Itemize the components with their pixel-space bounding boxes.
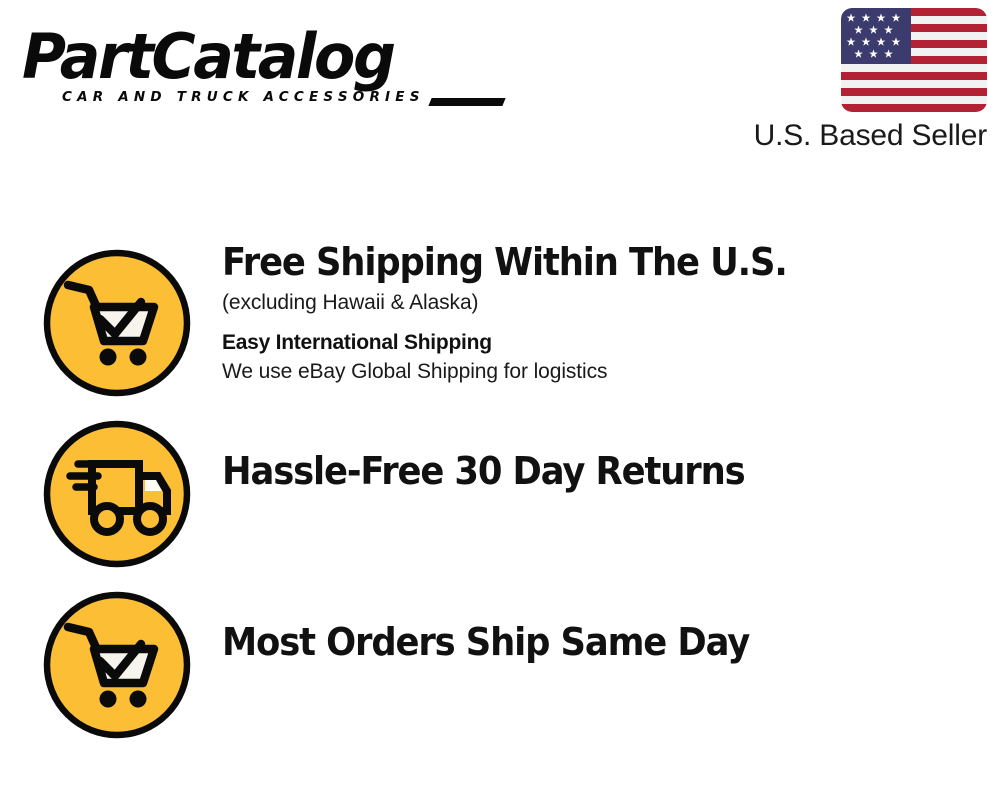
feature-row: Free Shipping Within The U.S. (excluding… bbox=[0, 235, 1000, 395]
shopping-cart-check-icon bbox=[42, 248, 192, 398]
feature-title: Hassle-Free 30 Day Returns bbox=[222, 446, 929, 496]
page-header: PartCatalog CAR AND TRUCK ACCESSORIES bbox=[0, 0, 1000, 170]
brand-logo[interactable]: PartCatalog CAR AND TRUCK ACCESSORIES bbox=[22, 26, 492, 118]
feature-text: Free Shipping Within The U.S. (excluding… bbox=[222, 237, 982, 387]
feature-title: Free Shipping Within The U.S. bbox=[222, 237, 929, 287]
us-flag-icon bbox=[841, 8, 987, 112]
brand-tagline: CAR AND TRUCK ACCESSORIES bbox=[62, 89, 425, 105]
feature-text: Most Orders Ship Same Day bbox=[222, 617, 982, 667]
feature-text: Hassle-Free 30 Day Returns bbox=[222, 446, 982, 496]
seller-badge: U.S. Based Seller bbox=[715, 8, 987, 154]
feature-title: Most Orders Ship Same Day bbox=[222, 617, 929, 667]
seller-label: U.S. Based Seller bbox=[715, 118, 987, 154]
feature-sub-title: Easy International Shipping bbox=[222, 328, 982, 357]
feature-note: (excluding Hawaii & Alaska) bbox=[222, 287, 982, 319]
brand-wordmark: PartCatalog bbox=[22, 26, 478, 88]
delivery-truck-icon bbox=[42, 419, 192, 569]
feature-row: Hassle-Free 30 Day Returns bbox=[0, 406, 1000, 566]
feature-sub-note: We use eBay Global Shipping for logistic… bbox=[222, 357, 982, 387]
logo-swoosh-icon bbox=[428, 98, 505, 106]
feature-row: Most Orders Ship Same Day bbox=[0, 577, 1000, 737]
shopping-cart-check-icon bbox=[42, 590, 192, 740]
